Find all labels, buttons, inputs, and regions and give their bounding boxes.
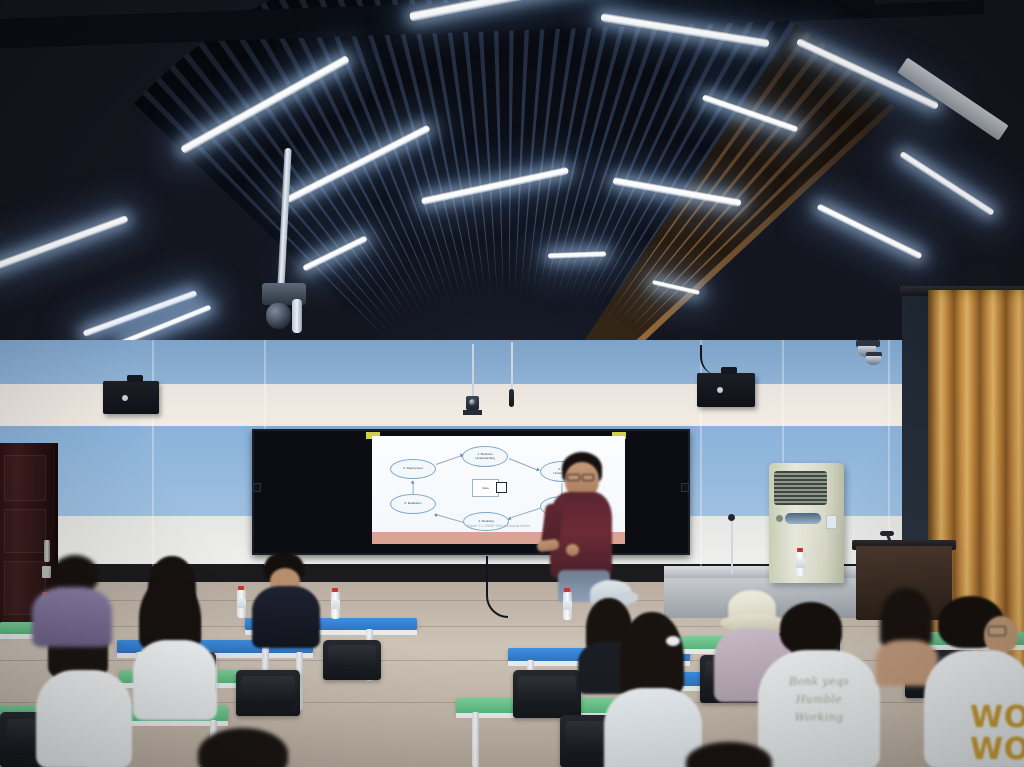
- slide-arrow-1: [436, 455, 462, 465]
- chair[interactable]: [323, 640, 381, 680]
- dome-camera-icon-2: [866, 356, 881, 365]
- student-body: [133, 640, 217, 720]
- hair-tie: [666, 636, 680, 646]
- door-handle[interactable]: [44, 540, 50, 562]
- slide-arrow-5: [436, 514, 463, 522]
- slide-arrow-2: [509, 458, 538, 470]
- tee-gold-line1: WO: [970, 700, 1024, 735]
- slide-center-data-box: Data: [472, 479, 499, 497]
- ceiling: [0, 0, 1024, 352]
- ceiling-light-13: [899, 151, 995, 217]
- slide-arrow-6: [413, 482, 414, 494]
- chair[interactable]: [513, 670, 581, 718]
- student-body: [36, 670, 132, 767]
- presenter-hand-right: [566, 544, 579, 556]
- air-conditioner-unit: [769, 463, 844, 583]
- door-lock-icon: [42, 566, 51, 578]
- slide-node-evaluation: 5. Evaluation: [390, 494, 436, 514]
- student-body: [758, 650, 880, 767]
- wall-speaker-right: [697, 373, 755, 407]
- desk-microphone-stand: [731, 518, 733, 574]
- student-hair: [620, 612, 684, 698]
- ceiling-light-12: [816, 203, 922, 260]
- tee-script-line2: Humble: [758, 692, 880, 709]
- projector-cable: [486, 556, 508, 618]
- slide-data-square-icon: [496, 482, 507, 493]
- student-body: [252, 586, 320, 648]
- student-glasses-icon: [988, 626, 1006, 636]
- desk-microphone-head: [728, 514, 735, 521]
- student-hair: [780, 602, 842, 654]
- tee-script-line1: Bonk yeqs: [758, 674, 880, 691]
- tee-script-line3: Working: [758, 710, 880, 727]
- wall-speaker-left: [103, 381, 159, 414]
- hanging-mic-icon: [509, 389, 514, 407]
- ceiling-light-2: [82, 290, 197, 338]
- slide-node-modeling: 4. Modeling: [463, 512, 509, 531]
- tee-gold-line2: WO: [970, 732, 1024, 767]
- presenter-glasses-icon-2: [582, 474, 594, 481]
- classroom-photo: 1. Business Understanding 2. Data Unders…: [0, 0, 1024, 767]
- ceiling-light-1: [0, 215, 129, 274]
- slide-node-deployment: 6. Deployment: [390, 459, 436, 479]
- student-body: [32, 587, 112, 647]
- hanging-mic-wire: [511, 342, 513, 390]
- desk-leg: [472, 712, 479, 767]
- ac-brand-badge: [785, 513, 821, 524]
- ac-grille: [774, 471, 827, 505]
- presenter-glasses-icon: [567, 474, 580, 481]
- wall-camera-icon: [466, 396, 479, 410]
- ac-indicator: [776, 515, 783, 522]
- ac-energy-label: [826, 515, 837, 529]
- slide-node-business-understanding: 1. Business Understanding: [462, 446, 508, 467]
- ceiling-camera-dome-icon: [266, 303, 291, 329]
- slide-arrow-4: [509, 508, 540, 519]
- blackboard-with-projection: 1. Business Understanding 2. Data Unders…: [252, 429, 690, 555]
- chair[interactable]: [236, 670, 300, 716]
- wall-camera-base: [463, 410, 482, 415]
- wall-camera-arm: [472, 344, 474, 398]
